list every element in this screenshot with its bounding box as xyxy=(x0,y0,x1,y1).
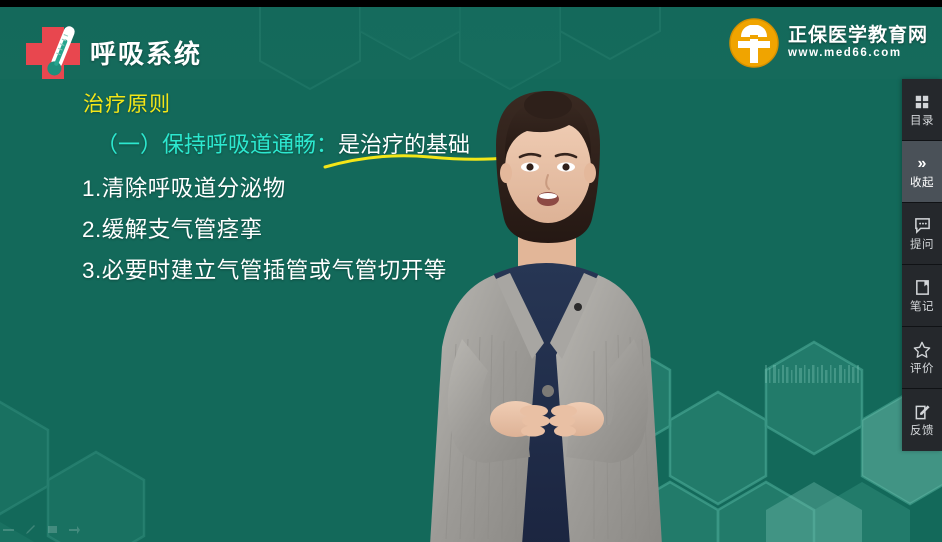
slide-heading: 治疗原则 xyxy=(83,88,171,118)
page-title: 呼吸系统 xyxy=(90,34,202,71)
medical-cross-thermometer-icon xyxy=(22,23,84,81)
slide-bullet-2: 2.缓解支气管痉挛 xyxy=(82,212,263,244)
section-statement: 是治疗的基础 xyxy=(338,132,470,157)
sidebar-item-rating[interactable]: 评价 xyxy=(902,327,942,389)
brand-url: www.med66.com xyxy=(788,46,928,61)
annotation-tool-tray[interactable] xyxy=(2,523,81,536)
right-toolbar: 目录 » 收起 提问 xyxy=(902,79,942,451)
barcode-decoration xyxy=(765,365,861,383)
top-letterbox-bar xyxy=(0,0,942,7)
brand-name: 正保医学教育网 xyxy=(788,25,928,47)
sidebar-item-collapse[interactable]: » 收起 xyxy=(902,141,942,203)
speech-bubble-icon xyxy=(912,216,932,236)
brand-watermark: 正保医学教育网 www.med66.com xyxy=(728,17,928,69)
sidebar-item-notes[interactable]: 笔记 xyxy=(902,265,942,327)
sidebar-item-feedback[interactable]: 反馈 xyxy=(902,389,942,451)
hexagon-pattern-right xyxy=(552,282,942,542)
arrow-right-icon[interactable] xyxy=(68,523,81,536)
sidebar-label-contents: 目录 xyxy=(910,116,934,128)
sidebar-label-notes: 笔记 xyxy=(910,302,934,314)
brand-text-block: 正保医学教育网 www.med66.com xyxy=(788,25,928,62)
med66-logo-icon xyxy=(728,17,780,69)
pen-icon[interactable] xyxy=(24,523,37,536)
edit-square-icon xyxy=(912,402,932,422)
star-icon xyxy=(912,340,932,360)
slide-stage: 呼吸系统 正保医学教育网 www.med66.com 治疗原则 （一）保持呼吸道… xyxy=(0,7,942,542)
video-lecture-player: 呼吸系统 正保医学教育网 www.med66.com 治疗原则 （一）保持呼吸道… xyxy=(0,0,942,542)
slide-bullet-3: 3.必要时建立气管插管或气管切开等 xyxy=(82,253,447,285)
sidebar-item-ask[interactable]: 提问 xyxy=(902,203,942,265)
chevron-double-right-icon: » xyxy=(912,154,932,174)
dash-icon[interactable] xyxy=(2,523,15,536)
sidebar-label-ask: 提问 xyxy=(910,240,934,252)
grid-icon xyxy=(912,92,932,112)
sidebar-label-collapse: 收起 xyxy=(910,178,934,190)
sidebar-label-feedback: 反馈 xyxy=(910,426,934,438)
slide-bullet-1: 1.清除呼吸道分泌物 xyxy=(82,171,286,203)
note-book-icon xyxy=(912,278,932,298)
section-number: （一） xyxy=(96,132,162,157)
sidebar-item-contents[interactable]: 目录 xyxy=(902,79,942,141)
square-icon[interactable] xyxy=(46,523,59,536)
hexagon-pattern-left xyxy=(0,372,220,542)
section-topic: 保持呼吸道通畅： xyxy=(162,132,338,157)
sidebar-label-rating: 评价 xyxy=(910,364,934,376)
slide-section-line: （一）保持呼吸道通畅：是治疗的基础 xyxy=(96,127,470,159)
